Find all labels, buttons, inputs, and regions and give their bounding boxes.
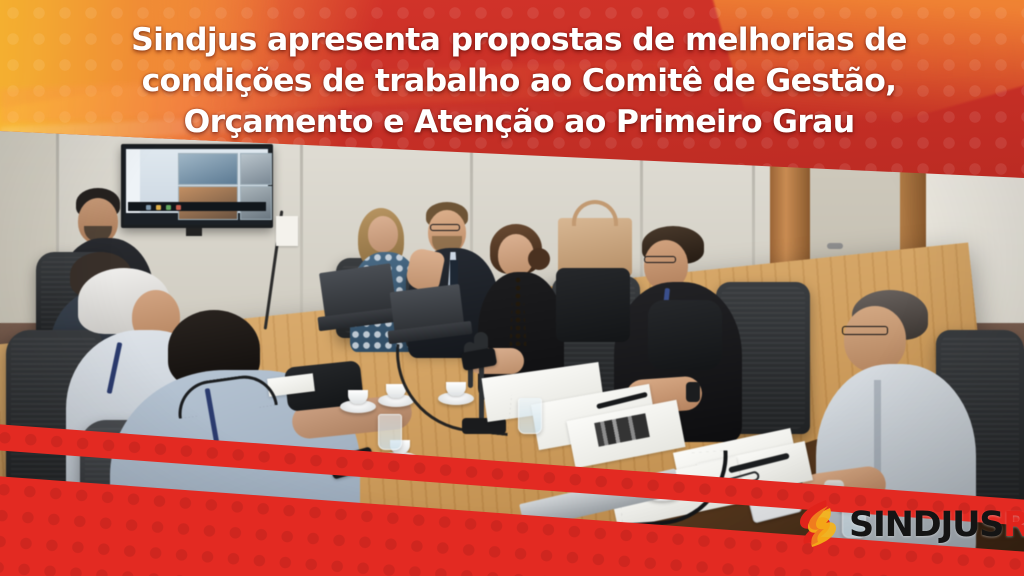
taskbar-icon — [176, 205, 181, 210]
screen-content — [126, 149, 268, 213]
wall-seam — [300, 125, 303, 325]
door-handle — [827, 243, 843, 249]
logo-secondary-text: RS — [1003, 505, 1024, 545]
taskbar-icon — [146, 205, 151, 210]
sindjus-logo[interactable]: SINDJUSRS — [796, 498, 1024, 552]
water-glass — [378, 414, 402, 450]
video-tile — [240, 153, 272, 185]
logo-primary-text: SINDJUS — [849, 505, 1003, 545]
backpack — [648, 300, 722, 370]
logo-wordmark: SINDJUSRS — [849, 508, 1024, 543]
glasses-icon — [430, 224, 460, 231]
taskbar-icon — [166, 205, 171, 210]
water-glass — [140, 520, 164, 560]
water-glass — [518, 398, 542, 434]
glasses-icon — [842, 326, 888, 335]
head — [844, 306, 906, 372]
taskbar-icon — [156, 205, 161, 210]
head — [368, 216, 398, 252]
wristwatch — [686, 382, 700, 402]
black-bag — [556, 268, 630, 342]
glasses-icon — [644, 256, 676, 263]
wall-note — [276, 216, 298, 246]
sindjus-flame-mark — [796, 498, 842, 552]
headline-text: Sindjus apresenta propostas de melhorias… — [30, 20, 1008, 143]
tv-stand — [186, 228, 202, 236]
hair-bun — [528, 248, 550, 270]
social-media-banner: Sindjus apresenta propostas de melhorias… — [0, 0, 1024, 576]
video-tile — [178, 153, 238, 185]
videoconference-screen — [121, 144, 273, 228]
